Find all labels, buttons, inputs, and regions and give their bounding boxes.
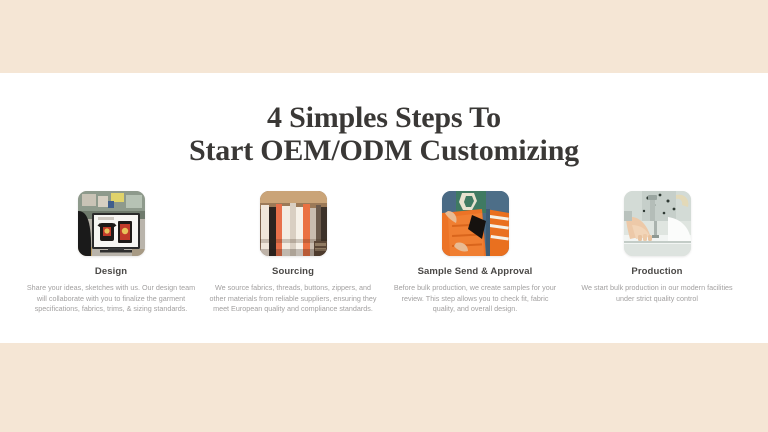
heading-line-1: 4 Simples Steps To	[0, 101, 768, 134]
bottom-color-band	[0, 343, 768, 432]
top-color-band	[0, 0, 768, 73]
step-card-production: Production We start bulk production in o…	[568, 191, 746, 315]
step-card-sample-send-approval: Sample Send & Approval Before bulk produ…	[386, 191, 564, 315]
step-title: Production	[631, 266, 682, 277]
step-description: Before bulk production, we create sample…	[386, 283, 564, 315]
heading-line-2: Start OEM/ODM Customizing	[0, 134, 768, 167]
step-card-design: Design Share your ideas, sketches with u…	[22, 191, 200, 315]
section-heading: 4 Simples Steps To Start OEM/ODM Customi…	[0, 101, 768, 167]
steps-list: Design Share your ideas, sketches with u…	[0, 191, 768, 315]
step-title: Sourcing	[272, 266, 314, 277]
content-panel: 4 Simples Steps To Start OEM/ODM Customi…	[0, 73, 768, 343]
design-monitor-tshirt-artwork-photo	[78, 191, 145, 256]
step-description: We start bulk production in our modern f…	[568, 283, 746, 304]
page-root: 4 Simples Steps To Start OEM/ODM Customi…	[0, 0, 768, 432]
production-sewing-machine-photo	[624, 191, 691, 256]
sample-orange-garments-photo	[442, 191, 509, 256]
step-title: Design	[95, 266, 127, 277]
step-description: We source fabrics, threads, buttons, zip…	[204, 283, 382, 315]
step-card-sourcing: Sourcing We source fabrics, threads, but…	[204, 191, 382, 315]
step-description: Share your ideas, sketches with us. Our …	[22, 283, 200, 315]
step-title: Sample Send & Approval	[418, 266, 533, 277]
sourcing-fabric-rolls-photo	[260, 191, 327, 256]
